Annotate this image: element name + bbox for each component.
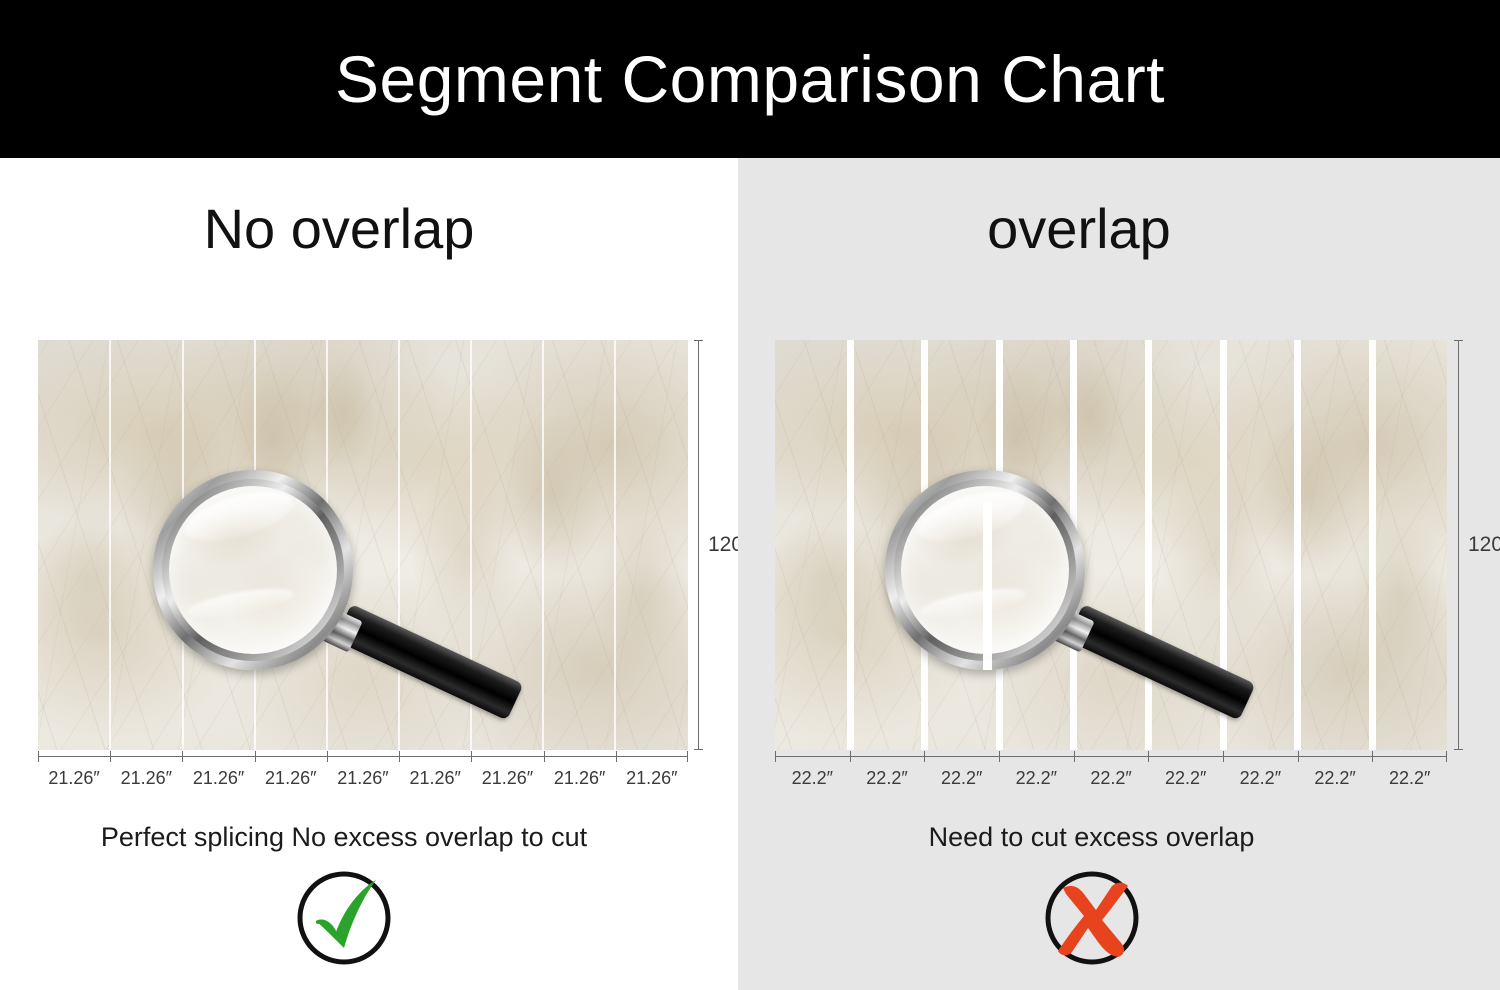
cross-circle-icon [1038,864,1146,972]
segment-label: 22.2″ [999,756,1074,789]
dimension-line [698,340,699,750]
segment-label: 21.26″ [471,756,543,789]
panel-no-overlap: No overlap [0,158,738,990]
segment-label: 21.26″ [327,756,399,789]
width-ruler-overlap: 22.2″ 22.2″ 22.2″ 22.2″ 22.2″ 22.2″ 22.2… [775,756,1447,789]
segment-label: 21.26″ [399,756,471,789]
segment-label: 21.26″ [110,756,182,789]
title-banner: Segment Comparison Chart [0,0,1500,158]
segment-label: 22.2″ [1372,756,1447,789]
segment-label: 21.26″ [255,756,327,789]
ruler-ticks: 21.26″ 21.26″ 21.26″ 21.26″ 21.26″ 21.26… [38,756,688,789]
dimension-cap-bottom [694,749,703,750]
height-label: 120″ [1468,533,1500,557]
comparison-panels: No overlap [0,158,1500,990]
mural-overlap [775,340,1447,750]
segment-label: 22.2″ [924,756,999,789]
segment-label: 22.2″ [1298,756,1373,789]
dimension-line [1458,340,1459,750]
dimension-cap-bottom [1454,749,1463,750]
segment-comparison-chart: Segment Comparison Chart No overlap [0,0,1500,990]
ruler-ticks: 22.2″ 22.2″ 22.2″ 22.2″ 22.2″ 22.2″ 22.2… [775,756,1447,789]
verdict-overlap [738,864,1500,972]
verdict-no-overlap [0,864,738,972]
segment-label: 21.26″ [182,756,254,789]
mural-no-overlap [38,340,688,750]
segment-label: 21.26″ [38,756,110,789]
segment-label: 22.2″ [850,756,925,789]
caption-no-overlap: Perfect splicing No excess overlap to cu… [0,822,738,853]
mural-artwork-image [775,340,1447,750]
check-circle-icon [290,864,398,972]
width-ruler-no-overlap: 21.26″ 21.26″ 21.26″ 21.26″ 21.26″ 21.26… [38,756,688,789]
caption-overlap: Need to cut excess overlap [738,822,1500,853]
segment-label: 22.2″ [775,756,850,789]
panel-heading-no-overlap: No overlap [0,198,738,260]
panel-overlap: overlap [738,158,1500,990]
segment-label: 22.2″ [1223,756,1298,789]
segment-label: 21.26″ [616,756,688,789]
page-title: Segment Comparison Chart [335,46,1165,112]
segment-label: 22.2″ [1148,756,1223,789]
segment-label: 21.26″ [544,756,616,789]
panel-heading-overlap: overlap [738,198,1500,260]
mural-artwork-image [38,340,688,750]
segment-label: 22.2″ [1074,756,1149,789]
